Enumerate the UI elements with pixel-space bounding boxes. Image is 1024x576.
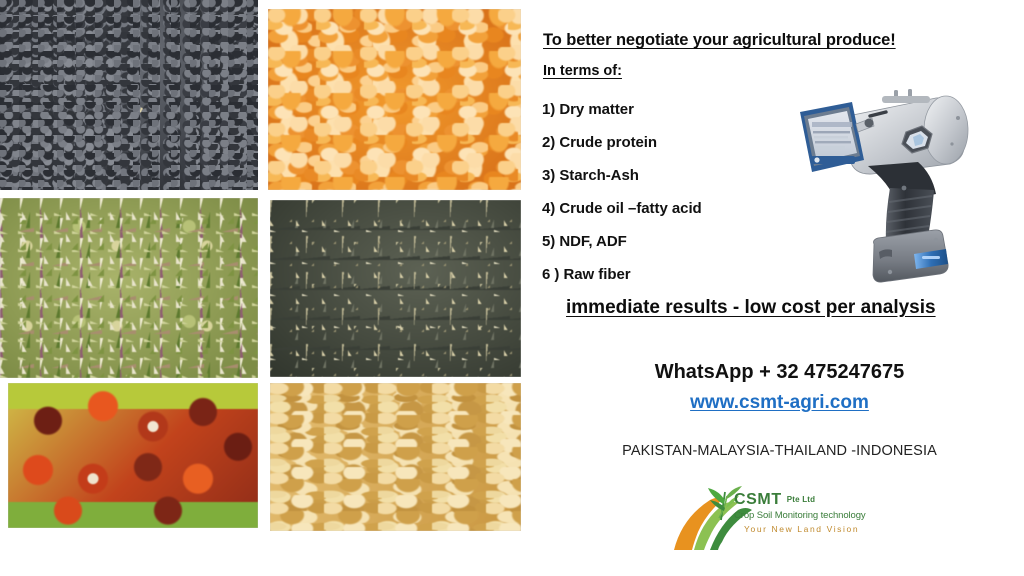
website-link-wrap: www.csmt-agri.com <box>535 392 1024 414</box>
countries-list: PAKISTAN-MALAYSIA-THAILAND -INDONESIA <box>535 443 1024 459</box>
logo-subtitle: Crop Soil Monitoring technology <box>734 509 866 522</box>
tagline: immediate results - low cost per analysi… <box>566 297 936 319</box>
photo-corn-kernels <box>268 9 521 190</box>
rapeseed-texture <box>0 0 258 190</box>
corn-texture <box>268 9 521 190</box>
photo-wheat-grain <box>270 383 521 531</box>
photo-dried-hay-straw <box>270 200 521 377</box>
slide-canvas: To better negotiate your agricultural pr… <box>0 0 1024 576</box>
wheat-texture <box>270 383 521 531</box>
logo-text-block: CSMTPte Ltd Crop Soil Monitoring technol… <box>734 491 866 536</box>
photo-oil-palm-fruit <box>8 383 258 528</box>
logo-suffix: Pte Ltd <box>787 495 816 504</box>
handheld-nir-analyser-image <box>786 76 1016 288</box>
website-link[interactable]: www.csmt-agri.com <box>690 392 869 413</box>
page-title: To better negotiate your agricultural pr… <box>543 31 896 50</box>
logo-slogan: Your New Land Vision <box>734 522 866 536</box>
logo-brand-line: CSMTPte Ltd <box>734 491 866 509</box>
subheading: In terms of: <box>543 63 622 79</box>
logo-brand: CSMT <box>734 491 782 508</box>
device-illustration <box>786 76 1016 288</box>
csmt-logo: CSMTPte Ltd Crop Soil Monitoring technol… <box>672 484 872 552</box>
whatsapp-contact: WhatsApp + 32 475247675 <box>535 361 1024 384</box>
palm-fruit-texture <box>8 383 258 528</box>
forage-texture <box>0 198 258 378</box>
photo-rapeseed-mustard-seeds <box>0 0 258 190</box>
hay-texture <box>270 200 521 377</box>
photo-chopped-green-forage <box>0 198 258 378</box>
